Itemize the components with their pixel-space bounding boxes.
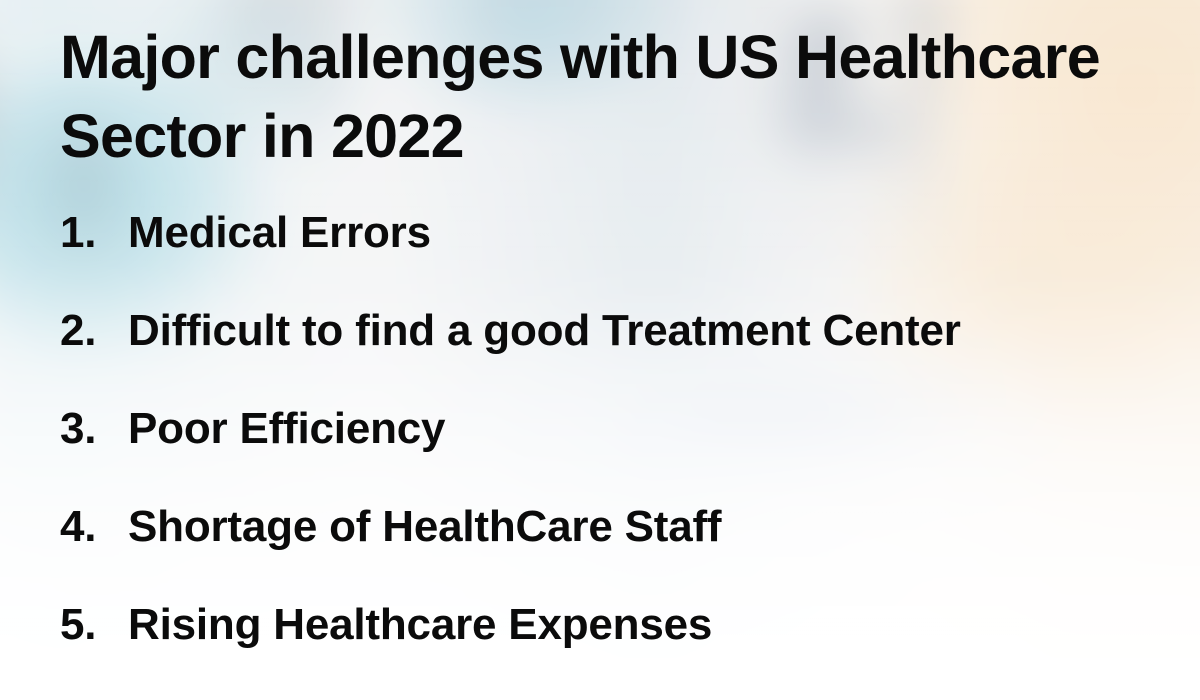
list-item: 5. Rising Healthcare Expenses	[60, 600, 1180, 698]
list-item: 3. Poor Efficiency	[60, 404, 1180, 502]
list-item-label: Rising Healthcare Expenses	[128, 600, 712, 650]
list-item-label: Shortage of HealthCare Staff	[128, 502, 721, 552]
list-item-number: 3.	[60, 404, 128, 454]
list-item-number: 2.	[60, 306, 128, 356]
list-item-number: 4.	[60, 502, 128, 552]
list-item-number: 1.	[60, 208, 128, 258]
list-item: 4. Shortage of HealthCare Staff	[60, 502, 1180, 600]
slide-canvas: Major challenges with US Healthcare Sect…	[0, 0, 1200, 700]
list-item-number: 5.	[60, 600, 128, 650]
list-item: 2. Difficult to find a good Treatment Ce…	[60, 306, 1180, 404]
challenges-list: 1. Medical Errors 2. Difficult to find a…	[60, 208, 1180, 698]
page-title: Major challenges with US Healthcare Sect…	[60, 18, 1170, 176]
slide-content: Major challenges with US Healthcare Sect…	[0, 0, 1200, 700]
list-item-label: Poor Efficiency	[128, 404, 445, 454]
list-item-label: Difficult to find a good Treatment Cente…	[128, 306, 961, 356]
list-item: 1. Medical Errors	[60, 208, 1180, 306]
list-item-label: Medical Errors	[128, 208, 431, 258]
